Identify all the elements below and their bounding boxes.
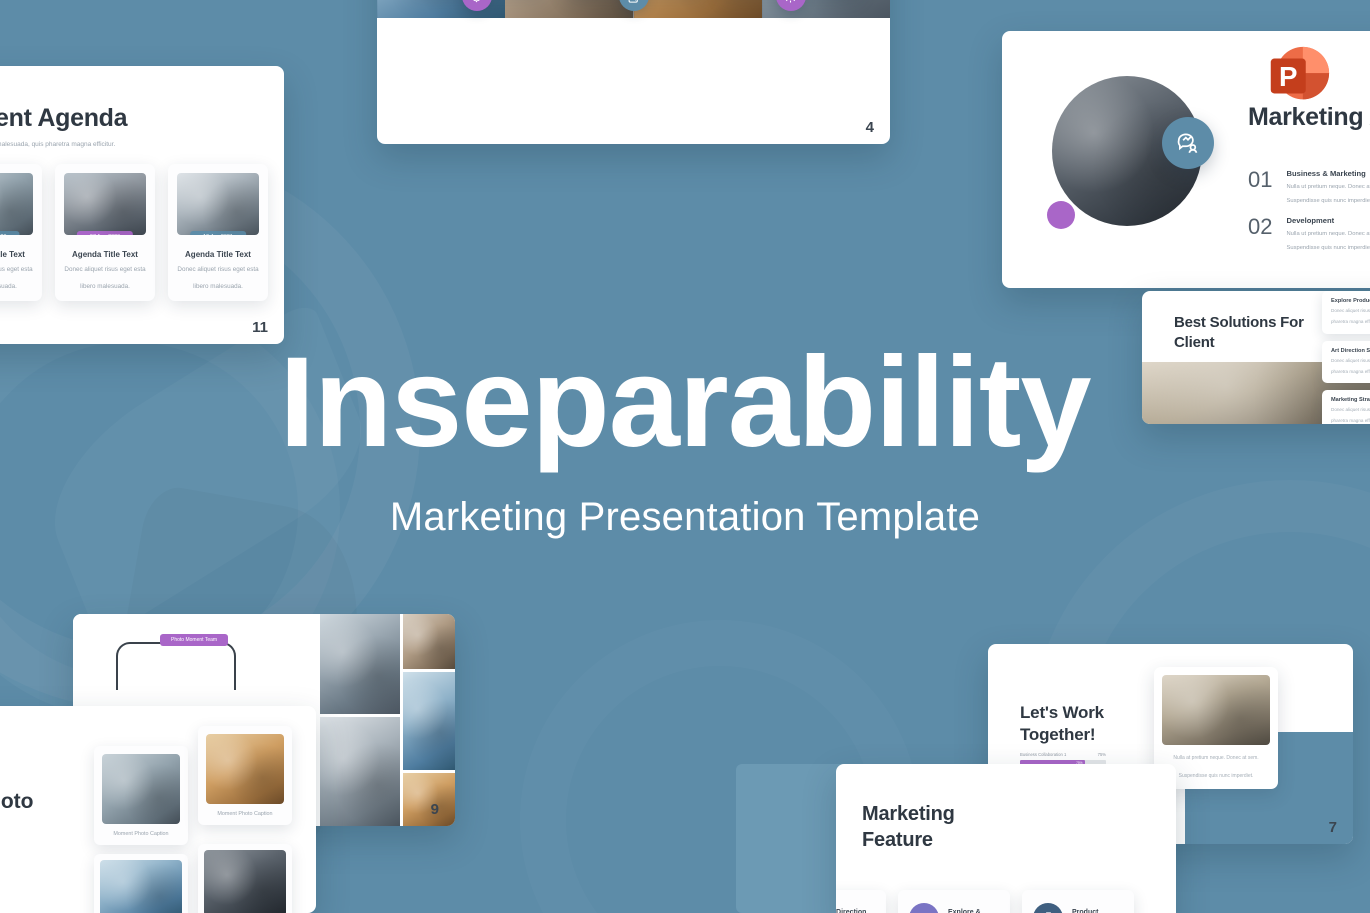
photo-card[interactable] [94,854,188,913]
brand-photo-2 [505,0,633,18]
photo-card-image [206,734,284,804]
agenda-item-desc-line1: Nulla ut pretium neque. Donec at sem. [1286,229,1370,239]
marketing-agenda-title: Marketing Agenda [1248,103,1370,132]
collage-photo-3 [403,614,455,669]
page-title: Inseparability [0,338,1370,469]
purple-dot-decoration [1047,201,1075,229]
marketing-feature-title-line2: Feature [862,829,933,851]
agenda-item-number: 01 [1248,169,1272,191]
photo-slide-footer-note: risus eget libero quis pharetra magna ef… [0,866,16,913]
slide-page-number: 11 [252,319,268,336]
marketing-feature-card[interactable]: Art Direction Strategy [836,890,886,913]
agenda-item-title: Business & Marketing [1286,169,1370,178]
lets-work-title: Let's Work Together! [1020,702,1104,746]
photo-card-caption: Moment Photo Caption [102,831,180,837]
agenda-card-date-badge: 07 Aug 2020 [77,231,133,235]
solution-card-desc-line1: Donec aliquet risus eget [1331,307,1370,315]
slide-page-number: 7 [1329,819,1337,836]
agenda-card-title: Agenda Title Text [177,250,259,259]
slide-photo[interactable]: Photo Moment Photo Caption Moment Photo … [0,706,316,913]
collage-photo-1 [320,614,400,714]
photo-card[interactable] [198,844,292,913]
marketing-feature-title-line1: Marketing [862,803,955,825]
marketing-agenda-item[interactable]: 02 Development Nulla ut pretium neque. D… [1248,216,1370,254]
collage-tag-badge: Photo Moment Team [160,634,228,646]
photo-footer-line2: quis pharetra magna efficitur. [0,890,4,900]
slide-marketing-feature[interactable]: Marketing Feature Art Direction Strategy… [836,764,1176,913]
agenda-card-desc-line2: libero malesuada. [177,282,259,293]
feature-label-line1: Explore & [948,909,981,913]
brand-photo-3 [634,0,762,18]
photo-card-image [102,754,180,824]
photo-footer-line1: risus eget libero [0,880,4,890]
photo-slide-title: Photo [0,790,33,814]
slide-marketing-agenda[interactable]: P Marketing Agenda 01 Business & Marketi… [1002,31,1370,288]
marketing-feature-card[interactable]: Product Development [1022,890,1134,913]
agenda-card[interactable]: 13 Apr 2020 Agenda Title Text Donec aliq… [0,164,42,301]
work-photo-caption-line1: Nulla at pretium neque. Donec at sem. [1162,754,1270,763]
agenda-item-desc-line1: Nulla ut pretium neque. Donec at sem. [1286,182,1370,192]
solution-card-title: Explore Product [1331,298,1370,304]
marketing-feature-card[interactable]: Explore & Discover [898,890,1010,913]
bar-label: Business Collaboration 1 [1020,752,1066,757]
solution-card-desc-line2: pharetra magna efficitur. [1331,318,1370,326]
agenda-card-title: Agenda Title Text [64,250,146,259]
slide-client-agenda[interactable]: Client Agenda eget libero malesuada, qui… [0,66,284,344]
flow-connector-decoration [116,642,236,690]
agenda-item-title: Development [1286,216,1370,225]
work-photo-caption-line2: Suspendisse quis nunc imperdiet. [1162,772,1270,781]
slide-page-number: 9 [431,801,439,818]
agenda-card-desc-line1: Donec aliquet risus eget esta [177,265,259,276]
magnifier-icon [909,903,939,913]
agenda-card-row: 13 Apr 2020 Agenda Title Text Donec aliq… [0,164,284,301]
marketing-feature-card-row: Art Direction Strategy Explore & Discove… [836,890,1134,913]
agenda-item-desc-line2: Suspendisse quis nunc imperdiet. [1286,196,1370,206]
page-subtitle: Marketing Presentation Template [0,495,1370,540]
bar-percent: 75% [1098,752,1106,757]
agenda-card[interactable]: 19 Jan 2021 Agenda Title Text Donec aliq… [168,164,268,301]
slide-brand-strategy[interactable]: Brand Strategy Vivamus elementum semper … [377,0,890,144]
agenda-card-date-badge: 19 Jan 2021 [190,231,246,235]
agenda-card-photo: 07 Aug 2020 [64,173,146,235]
marketing-feature-card-label: Explore & Discover [948,908,981,913]
agenda-item-desc-line2: Suspendisse quis nunc imperdiet. [1286,243,1370,253]
photo-card[interactable]: Moment Photo Caption [94,746,188,845]
lets-work-title-line2: Together! [1020,725,1095,744]
agenda-title: Client Agenda [0,104,284,133]
agenda-subtitle: eget libero malesuada, quis pharetra mag… [0,141,284,148]
agenda-card-desc-line1: Donec aliquet risus eget esta [0,265,33,276]
agenda-card-title: Agenda Title Text [0,250,33,259]
marketing-feature-title: Marketing Feature [862,802,955,853]
collage-photo-4 [403,672,455,770]
powerpoint-icon: P [1262,41,1332,111]
agenda-card-desc-line2: libero malesuada. [0,282,33,293]
agenda-item-number: 02 [1248,216,1272,238]
svg-text:P: P [1279,61,1297,92]
feature-label-line1: Product [1072,909,1098,913]
agenda-card-photo: 13 Apr 2020 [0,173,33,235]
clipboard-check-icon [1033,903,1063,913]
agenda-card-date-badge: 13 Apr 2020 [0,231,20,235]
insight-person-icon [1162,117,1214,169]
agenda-card-photo: 19 Jan 2021 [177,173,259,235]
work-photo-image [1162,675,1270,745]
marketing-feature-card-label: Art Direction Strategy [836,908,866,913]
best-solutions-card[interactable]: Explore Product Donec aliquet risus eget… [1322,291,1370,334]
feature-label-line1: Art Direction [836,909,866,913]
agenda-card-desc-line1: Donec aliquet risus eget esta [64,265,146,276]
marketing-feature-card-label: Product Development [1072,908,1116,913]
photo-card-caption: Moment Photo Caption [206,811,284,817]
photo-card[interactable]: Moment Photo Caption [198,726,292,825]
collage-photo-grid [320,614,455,826]
hero-block: Inseparability Marketing Presentation Te… [0,338,1370,540]
collage-photo-5 [403,773,455,826]
presentation-preview-canvas: Brand Strategy Vivamus elementum semper … [0,0,1370,913]
agenda-card-desc-line2: libero malesuada. [64,282,146,293]
marketing-agenda-item[interactable]: 01 Business & Marketing Nulla ut pretium… [1248,169,1370,207]
lets-work-title-line1: Let's Work [1020,703,1104,722]
photo-card-image [100,860,182,913]
slide-page-number: 4 [866,119,874,136]
collage-photo-2 [320,717,400,826]
photo-card-image [204,850,286,913]
agenda-card[interactable]: 07 Aug 2020 Agenda Title Text Donec aliq… [55,164,155,301]
